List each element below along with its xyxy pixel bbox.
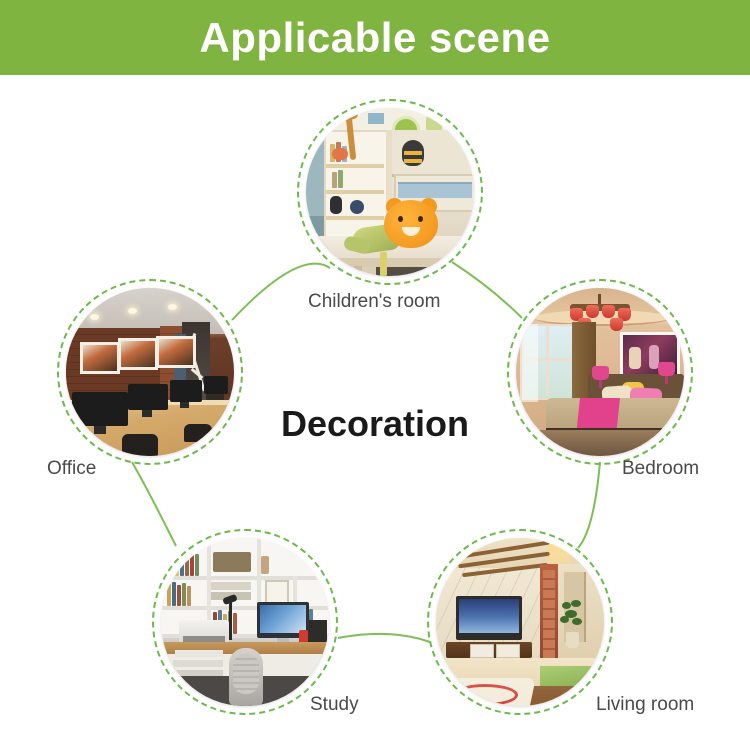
desk-chair — [229, 648, 263, 706]
book — [165, 552, 169, 576]
book — [332, 172, 337, 188]
toy-figure — [330, 196, 342, 214]
wall-picture — [156, 336, 196, 368]
desk-lamp-arm — [229, 600, 232, 640]
book — [185, 553, 189, 576]
cabinet-drawer — [470, 644, 494, 658]
study-photo — [161, 538, 329, 706]
chandelier-shade — [610, 318, 623, 331]
node-children-room[interactable] — [297, 99, 483, 285]
bed-rail — [312, 258, 464, 267]
shelf-board — [326, 190, 384, 194]
applicable-scene-infographic: Applicable scene — [0, 0, 750, 750]
book — [167, 584, 171, 606]
table-lamp — [658, 362, 675, 376]
label-office: Office — [47, 458, 96, 480]
floor-reflection — [436, 658, 604, 706]
book — [190, 550, 194, 576]
label-children-room: Children's room — [308, 291, 440, 313]
cabinet-drawer — [496, 644, 520, 658]
label-bedroom: Bedroom — [622, 458, 699, 480]
toy-ball — [350, 200, 364, 214]
wall-picture — [118, 338, 158, 370]
living-room-scene — [436, 538, 604, 706]
book — [177, 585, 181, 606]
book — [187, 586, 191, 606]
book — [170, 550, 174, 576]
monitor — [170, 380, 202, 402]
bee-plush — [402, 140, 424, 166]
center-title: Decoration — [0, 403, 750, 445]
children-room-scene — [306, 108, 474, 276]
book — [338, 170, 343, 188]
shelf-board — [326, 164, 384, 168]
node-study[interactable] — [152, 529, 338, 715]
shelf-board — [326, 216, 384, 220]
lamp-stem — [599, 380, 602, 388]
book — [175, 554, 179, 576]
label-living-room: Living room — [596, 694, 694, 716]
bed-post — [380, 252, 387, 276]
paper-stack — [211, 582, 251, 590]
toy-pretzel — [332, 148, 348, 160]
study-scene — [161, 538, 329, 706]
book — [195, 554, 199, 576]
pooh-eye-right — [418, 216, 423, 222]
wall-picture — [80, 342, 120, 374]
ceiling-spotlight — [128, 308, 137, 314]
vase — [261, 556, 269, 574]
ceiling-spotlight — [90, 314, 99, 320]
television — [456, 596, 522, 640]
book — [180, 551, 184, 576]
paper-tray — [173, 660, 223, 667]
shelf-board — [161, 576, 329, 580]
living-room-photo — [436, 538, 604, 706]
sheer-curtain — [520, 324, 538, 402]
accent-column — [540, 564, 558, 668]
ceiling-spotlight — [168, 304, 177, 310]
monitor — [204, 376, 228, 394]
children-room-photo — [306, 108, 474, 276]
book — [182, 583, 186, 606]
wall-decal-blue — [368, 113, 384, 124]
table-lamp — [592, 366, 609, 380]
bed-leg — [354, 266, 362, 276]
storage-box — [213, 552, 251, 572]
headboard-stripe — [398, 182, 472, 198]
pooh-eye-left — [398, 216, 403, 222]
potted-plant — [560, 600, 584, 634]
plant-pot — [566, 632, 579, 648]
chandelier-shade — [602, 305, 615, 318]
connector-living-study — [338, 634, 430, 642]
label-study: Study — [310, 694, 359, 716]
book — [172, 582, 176, 606]
node-living-room[interactable] — [427, 529, 613, 715]
ceiling-spotlight — [204, 300, 213, 306]
pooh-plush — [384, 200, 438, 248]
chandelier-shade — [586, 305, 599, 318]
lamp-stem — [665, 376, 668, 384]
book — [233, 613, 237, 634]
paper-tray — [175, 650, 223, 657]
